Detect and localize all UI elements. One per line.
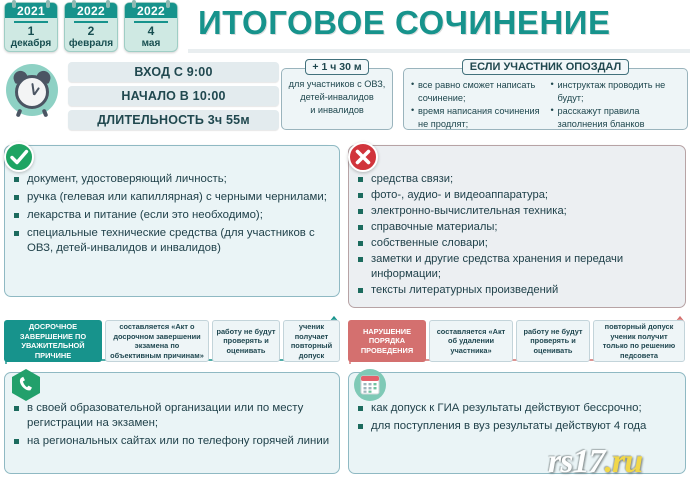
page-title: ИТОГОВОЕ СОЧИНЕНИЕ [198,4,611,42]
calendar-day-3: 4 [125,25,177,37]
ring-right-icon [46,0,50,8]
calendar-day-2: 2 [65,25,117,37]
flow-step-2: составляется «Акт об удалении участника» [429,320,513,362]
forbidden-items-list: средства связи; фото-, аудио- и видеоапп… [357,172,677,298]
list-item: собственные словари; [357,236,677,251]
ovz-box: для участников с ОВЗ, детей-инвалидов и … [281,68,393,130]
allowed-items-body: документ, удостоверяющий личность; ручка… [4,145,340,297]
calendar-month-1: декабря [5,37,57,50]
calendar-dates-row: 2021 1 декабря 2022 2 февраля [4,2,178,52]
calendar-divider-2 [74,21,108,23]
phone-hex-glyph [10,368,42,402]
header-rule [188,49,690,53]
violation-flow: НАРУШЕНИЕ ПОРЯДКА ПРОВЕДЕНИЯ составляетс… [348,316,686,366]
flow-step-3: работу не будут проверять и оценивать [212,320,280,362]
header: 2021 1 декабря 2022 2 февраля [0,0,690,56]
list-item: справочные материалы; [357,220,677,235]
flow-step-4: повторный допуск ученик получит только п… [593,320,685,362]
results-validity-panel: СКОЛЬКО ДЕЙСТВУЮТ РЕЗУЛЬТАТЫ [348,372,686,474]
calendar-glyph [354,369,386,401]
late-item: расскажут правила заполнения бланков [551,105,681,130]
where-results-panel: ГДЕ УЗНАТЬ РЕЗУЛЬТАТЫ ЭКЗАМЕНА в своей о… [4,372,340,474]
flow-cells-left: ДОСРОЧНОЕ ЗАВЕРШЕНИЕ ПО УВАЖИТЕЛЬНОЙ ПРИ… [4,320,340,362]
list-item: документ, удостоверяющий личность; [13,172,331,187]
ring-right-icon [166,0,170,8]
check-glyph [6,144,32,170]
cross-circle-icon [348,142,378,172]
results-validity-list: как допуск к ГИА результаты действуют бе… [357,401,677,434]
forbidden-items-panel: ЧТО НЕЛЬЗЯ БРАТЬ С СОБОЙ НА ЭКЗАМЕН сред… [348,145,686,308]
late-column-left: все равно сможет написать сочинение; вре… [411,79,541,129]
clock-leg-left [16,109,23,118]
calendar-day-1: 1 [5,25,57,37]
forbidden-items-body: средства связи; фото-, аудио- и видеоапп… [348,145,686,308]
ring-left-icon [12,0,16,8]
ring-left-icon [72,0,76,8]
ovz-extra-time-tag: + 1 ч 30 м [305,59,369,75]
late-column-right: инструктаж проводить не будут; расскажут… [551,79,681,129]
list-item: тексты литературных произведений [357,283,677,298]
list-item: лекарства и питание (если это необходимо… [13,208,331,223]
early-finish-flow: ДОСРОЧНОЕ ЗАВЕРШЕНИЕ ПО УВАЖИТЕЛЬНОЙ ПРИ… [4,316,340,366]
calendar-card-1: 2021 1 декабря [4,2,58,52]
late-participant-box: все равно сможет написать сочинение; вре… [403,68,688,130]
list-item: на региональных сайтах или по телефону г… [13,434,331,449]
clock-leg-right [42,109,49,118]
time-bars: ВХОД С 9:00 НАЧАЛО В 10:00 ДЛИТЕЛЬНОСТЬ … [68,62,279,134]
calendar-icon [354,369,386,401]
results-validity-body: как допуск к ГИА результаты действуют бе… [348,372,686,474]
calendar-month-2: февраля [65,37,117,50]
late-item: все равно сможет написать сочинение; [411,79,541,104]
list-item: электронно-вычислительная техника; [357,204,677,219]
flow-step-4: ученик получает повторный допуск [283,320,340,362]
allowed-items-list: документ, удостоверяющий личность; ручка… [13,172,331,256]
ring-right-icon [106,0,110,8]
list-item: как допуск к ГИА результаты действуют бе… [357,401,677,416]
infographic-page: 2021 1 декабря 2022 2 февраля [0,0,690,481]
ovz-line-2: детей-инвалидов [282,91,392,104]
calendar-card-3: 2022 4 мая [124,2,178,52]
list-item: в своей образовательной организации или … [13,401,331,431]
ovz-line-3: и инвалидов [282,104,392,117]
list-item: средства связи; [357,172,677,187]
ovz-line-1: для участников с ОВЗ, [282,78,392,91]
calendar-divider-1 [14,21,48,23]
flow-cells-right: НАРУШЕНИЕ ПОРЯДКА ПРОВЕДЕНИЯ составляетс… [348,320,685,362]
alarm-clock-icon [6,64,58,116]
clock-minute-hand [31,83,35,95]
late-item: инструктаж проводить не будут; [551,79,681,104]
calendar-divider-3 [134,21,168,23]
list-item: фото-, аудио- и видеоаппаратура; [357,188,677,203]
clock-face [15,75,49,109]
where-results-list: в своей образовательной организации или … [13,401,331,449]
calendar-month-3: мая [125,37,177,50]
flow-step-3: работу не будут проверять и оценивать [516,320,590,362]
cross-glyph [350,144,376,170]
time-bar-start: НАЧАЛО В 10:00 [68,86,279,106]
flow-head-cell: ДОСРОЧНОЕ ЗАВЕРШЕНИЕ ПО УВАЖИТЕЛЬНОЙ ПРИ… [4,320,102,362]
flow-step-2: составляется «Акт о досрочном завершении… [105,320,209,362]
list-item: ручка (гелевая или капиллярная) с черным… [13,190,331,205]
alarm-clock-glyph [6,64,58,116]
phone-icon [10,368,42,402]
flow-head-cell: НАРУШЕНИЕ ПОРЯДКА ПРОВЕДЕНИЯ [348,320,426,362]
check-circle-icon [4,142,34,172]
calendar-card-2: 2022 2 февраля [64,2,118,52]
list-item: специальные технические средства (для уч… [13,226,331,256]
time-bar-duration: ДЛИТЕЛЬНОСТЬ 3ч 55м [68,110,279,130]
list-item: заметки и другие средства хранения и пер… [357,252,677,282]
list-item: для поступления в вуз результаты действу… [357,419,677,434]
ring-left-icon [132,0,136,8]
where-results-body: в своей образовательной организации или … [4,372,340,474]
late-participant-tag: ЕСЛИ УЧАСТНИК ОПОЗДАЛ [462,59,629,75]
time-bar-entry: ВХОД С 9:00 [68,62,279,82]
allowed-items-panel: ЧТО МОЖНО ВЗЯТЬ С СОБОЙ НА ЭКЗАМЕН докум… [4,145,340,297]
late-item: время написания сочинения не продлят; [411,105,541,130]
